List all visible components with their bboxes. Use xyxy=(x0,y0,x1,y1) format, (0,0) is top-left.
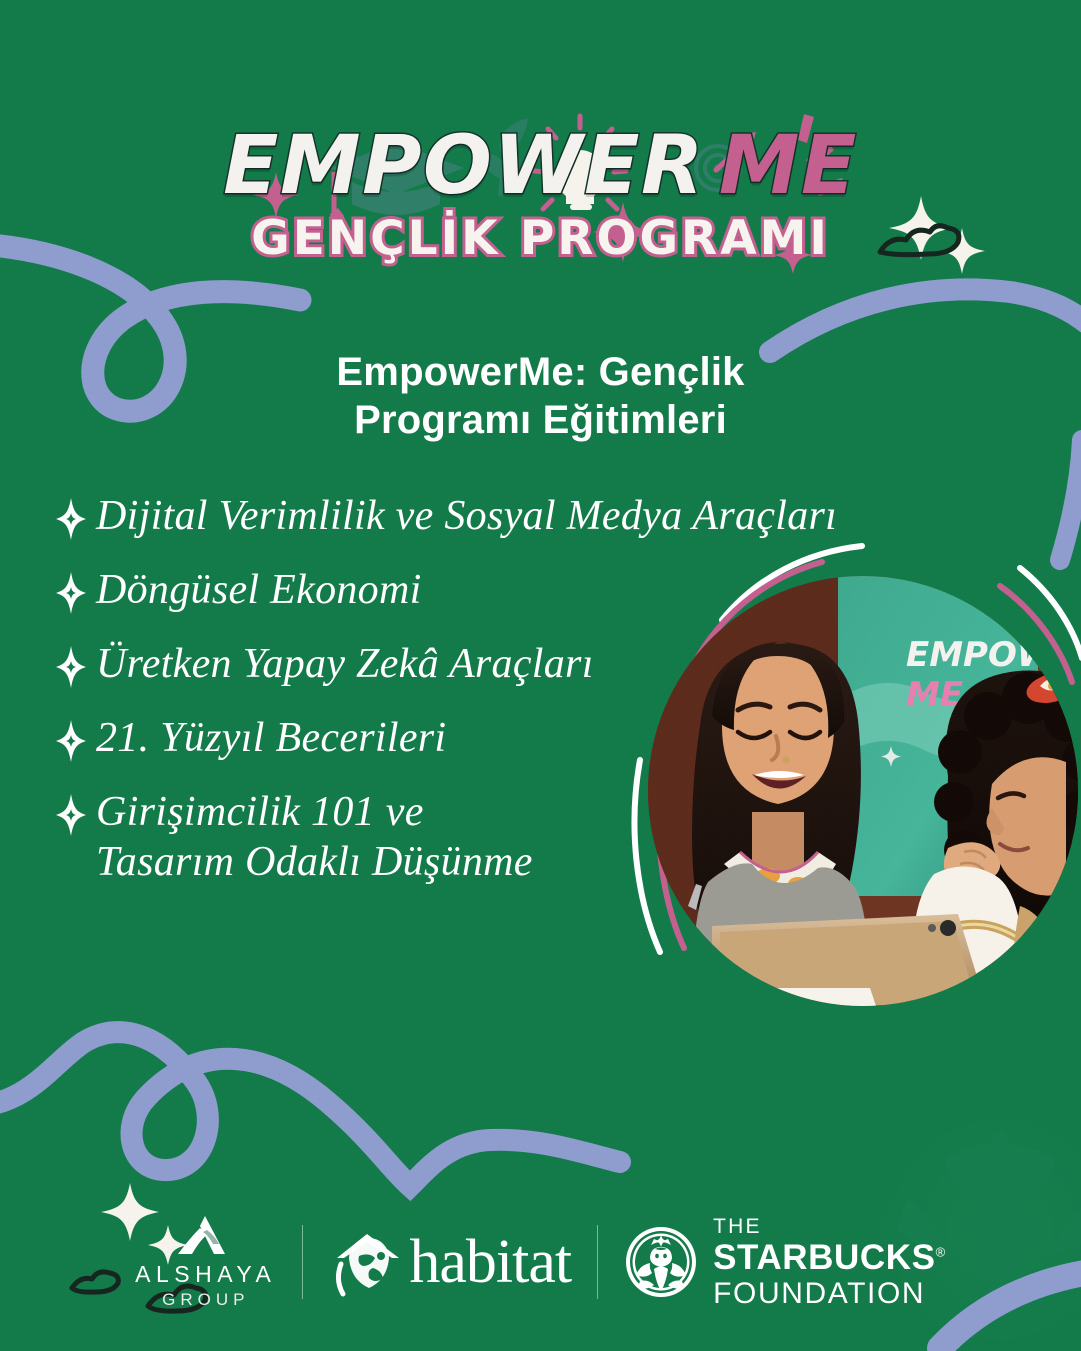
list-item: Dijital Verimlilik ve Sosyal Medya Araçl… xyxy=(54,492,954,542)
starbucks-siren-icon xyxy=(624,1225,698,1299)
sbf-foundation-label: FOUNDATION xyxy=(713,1279,946,1309)
photo-illustration: EMPOWER ME xyxy=(648,576,1078,1006)
poster-canvas: EMPOWERME GENÇLİK PROGRAMI EmpowerMe: Ge… xyxy=(0,0,1081,1351)
logo-starbucks-foundation: THE STARBUCKS® FOUNDATION xyxy=(598,1219,972,1305)
list-item-label: Döngüsel Ekonomi xyxy=(96,566,422,616)
sparkle-star-icon xyxy=(54,496,88,542)
page-title-line-1: EmpowerMe: Gençlik xyxy=(0,348,1081,396)
sparkle-star-icon xyxy=(54,792,88,838)
sbf-the-label: THE xyxy=(713,1216,946,1237)
program-photo: EMPOWER ME xyxy=(648,576,1078,1006)
habitat-roof-globe-icon xyxy=(329,1224,405,1300)
list-item-label: Dijital Verimlilik ve Sosyal Medya Araçl… xyxy=(96,492,837,542)
habitat-wordmark: habitat xyxy=(409,1231,571,1293)
list-item-label: 21. Yüzyıl Becerileri xyxy=(96,714,446,764)
logo-word-empower: EMPOWER xyxy=(223,119,705,213)
sparkle-star-icon xyxy=(54,718,88,764)
banner-word-empower: EMPOWER xyxy=(906,635,1078,675)
logo-alshaya: ALSHAYA GROUP xyxy=(109,1219,302,1305)
page-title: EmpowerMe: Gençlik Programı Eğitimleri xyxy=(0,348,1081,444)
partner-logos: ALSHAYA GROUP habitat xyxy=(0,1219,1081,1305)
list-item-label: Üretken Yapay Zekâ Araçları xyxy=(96,640,594,690)
list-item-label: Girişimcilik 101 ve Tasarım Odaklı Düşün… xyxy=(96,788,533,887)
logo-subtitle: GENÇLİK PROGRAMI xyxy=(251,211,830,266)
logo-habitat: habitat xyxy=(303,1219,597,1305)
alshaya-a-mark-icon xyxy=(171,1214,241,1258)
logo-wordmark: EMPOWERME xyxy=(223,126,858,207)
sparkle-star-icon xyxy=(54,644,88,690)
page-title-line-2: Programı Eğitimleri xyxy=(0,396,1081,444)
alshaya-wordmark: ALSHAYA xyxy=(135,1261,276,1288)
empowerme-logo: EMPOWERME GENÇLİK PROGRAMI xyxy=(0,126,1081,266)
sbf-starbucks-label: STARBUCKS® xyxy=(713,1240,946,1275)
sparkle-star-icon xyxy=(54,570,88,616)
alshaya-group-label: GROUP xyxy=(162,1290,249,1310)
logo-word-me: ME xyxy=(719,119,858,213)
